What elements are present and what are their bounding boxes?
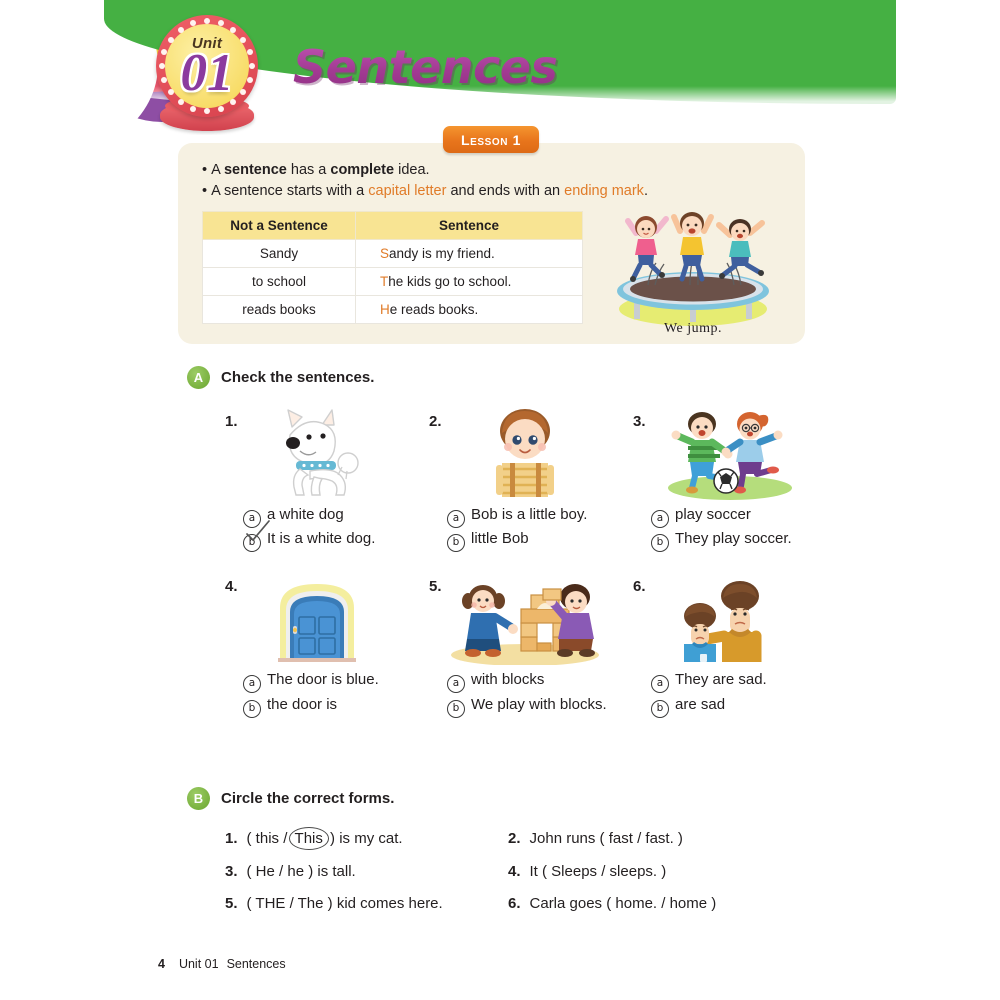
column-header-not-a-sentence: Not a Sentence bbox=[203, 212, 356, 240]
option-a4-a[interactable]: aThe door is blue. bbox=[243, 671, 379, 693]
option-a5-b[interactable]: bWe play with blocks. bbox=[447, 696, 607, 718]
unit-badge-dot bbox=[218, 106, 224, 112]
option-a1-b-text: It is a white dog. bbox=[267, 530, 375, 547]
footer-unit: Unit 01 bbox=[179, 957, 219, 971]
rule-text-run: . bbox=[644, 183, 648, 199]
rule-text-run: capital letter bbox=[368, 183, 446, 199]
table-row: reads booksHe reads books. bbox=[203, 296, 583, 324]
question-b4-text: It ( Sleeps / sleeps. ) bbox=[530, 863, 667, 880]
rule-text-run: has a bbox=[287, 162, 331, 178]
unit-badge-dot bbox=[190, 106, 196, 112]
question-b2[interactable]: 2.John runs ( fast / fast. ) bbox=[508, 830, 683, 847]
unit-badge-dot bbox=[204, 108, 210, 114]
unit-badge-dot bbox=[204, 18, 210, 24]
rule-text-run: and ends with an bbox=[446, 183, 564, 199]
table-row: SandySandy is my friend. bbox=[203, 240, 583, 268]
option-a2-b[interactable]: blittle Bob bbox=[447, 530, 529, 552]
question-b1-before: ( this / bbox=[247, 830, 292, 847]
footer-page-number: 4 bbox=[158, 957, 165, 971]
option-a4-a-text: The door is blue. bbox=[267, 671, 379, 688]
sentence-comparison-table: Not a Sentence Sentence SandySandy is my… bbox=[202, 211, 583, 324]
lesson-badge: Lesson 1 bbox=[443, 126, 539, 153]
rule-item-1: •A sentence has a complete idea. bbox=[202, 160, 782, 181]
handwritten-checkmark bbox=[242, 518, 276, 544]
question-b2-number: 2. bbox=[508, 830, 521, 847]
question-b6[interactable]: 6.Carla goes ( home. / home ) bbox=[508, 895, 716, 912]
question-b5-text: ( THE / The ) kid comes here. bbox=[247, 895, 443, 912]
question-b5[interactable]: 5.( THE / The ) kid comes here. bbox=[225, 895, 443, 912]
option-a3-b[interactable]: bThey play soccer. bbox=[651, 530, 792, 552]
rule-item-2-text: A sentence starts with a capital letter … bbox=[211, 183, 648, 199]
capital-letter: S bbox=[380, 246, 389, 261]
option-a5-a[interactable]: awith blocks bbox=[447, 671, 544, 693]
option-a6-a-text: They are sad. bbox=[675, 671, 767, 688]
table-header-row: Not a Sentence Sentence bbox=[203, 212, 583, 240]
option-a1-a-text: a white dog bbox=[267, 506, 344, 523]
option-a2-b-text: little Bob bbox=[471, 530, 529, 547]
capital-letter: H bbox=[380, 302, 390, 317]
section-b-badge: B bbox=[187, 787, 210, 810]
unit-badge: Unit 01 bbox=[148, 13, 266, 133]
question-b4-number: 4. bbox=[508, 863, 521, 880]
option-a5-b-text: We play with blocks. bbox=[471, 696, 607, 713]
blue-door-illustration bbox=[272, 580, 362, 667]
question-b6-number: 6. bbox=[508, 895, 521, 912]
option-a3-b-text: They play soccer. bbox=[675, 530, 792, 547]
illustration-caption: We jump. bbox=[598, 321, 788, 337]
page-header-decoration: Unit 01 Sentences bbox=[0, 0, 1000, 135]
circled-answer-b1[interactable]: This bbox=[292, 830, 326, 847]
option-a2-a-text: Bob is a little boy. bbox=[471, 506, 587, 523]
page-footer: 4Unit 01Sentences bbox=[158, 957, 286, 971]
unit-badge-number: 01 bbox=[148, 47, 266, 100]
option-mark-b: b bbox=[447, 700, 465, 718]
kids-jumping-on-trampoline-illustration bbox=[598, 201, 788, 331]
option-mark-a: a bbox=[651, 675, 669, 693]
lesson-info-box: •A sentence has a complete idea. •A sent… bbox=[178, 143, 805, 344]
rule-text-run: sentence bbox=[224, 162, 287, 178]
capital-letter: T bbox=[380, 274, 388, 289]
rule-text-run: idea. bbox=[394, 162, 429, 178]
rules-list: •A sentence has a complete idea. •A sent… bbox=[202, 160, 782, 202]
option-a4-b-text: the door is bbox=[267, 696, 337, 713]
question-b6-text: Carla goes ( home. / home ) bbox=[530, 895, 717, 912]
question-number-a4: 4. bbox=[225, 578, 238, 595]
question-b3-text: ( He / he ) is tall. bbox=[247, 863, 356, 880]
rule-text-run: A sentence starts with a bbox=[211, 183, 368, 199]
question-b1[interactable]: 1.( this / This ) is my cat. bbox=[225, 830, 403, 847]
sentence-rest: andy is my friend. bbox=[389, 246, 495, 261]
option-a2-a[interactable]: aBob is a little boy. bbox=[447, 506, 587, 528]
option-mark-a: a bbox=[447, 510, 465, 528]
option-mark-a: a bbox=[243, 675, 261, 693]
question-number-a6: 6. bbox=[633, 578, 646, 595]
boy-in-striped-shirt-illustration bbox=[480, 405, 570, 505]
option-mark-a: a bbox=[651, 510, 669, 528]
cell-not-a-sentence: to school bbox=[203, 268, 356, 296]
option-a6-b-text: are sad bbox=[675, 696, 725, 713]
kids-playing-soccer-illustration bbox=[660, 408, 800, 505]
option-a6-a[interactable]: aThey are sad. bbox=[651, 671, 767, 693]
option-mark-b: b bbox=[447, 534, 465, 552]
question-b5-number: 5. bbox=[225, 895, 238, 912]
rule-item-2: •A sentence starts with a capital letter… bbox=[202, 181, 782, 202]
footer-title: Sentences bbox=[227, 957, 286, 971]
cell-sentence: The kids go to school. bbox=[356, 268, 583, 296]
rule-text-run: A bbox=[211, 162, 224, 178]
sad-father-and-son-illustration bbox=[672, 580, 787, 667]
rule-item-1-text: A sentence has a complete idea. bbox=[211, 162, 429, 178]
option-a5-a-text: with blocks bbox=[471, 671, 544, 688]
question-number-a2: 2. bbox=[429, 413, 442, 430]
rule-text-run: ending mark bbox=[564, 183, 644, 199]
page-title: Sentences bbox=[293, 40, 557, 94]
cell-sentence: Sandy is my friend. bbox=[356, 240, 583, 268]
question-b4[interactable]: 4.It ( Sleeps / sleeps. ) bbox=[508, 863, 666, 880]
white-dog-illustration bbox=[262, 405, 372, 505]
question-number-a1: 1. bbox=[225, 413, 238, 430]
option-mark-b: b bbox=[243, 700, 261, 718]
option-a4-b[interactable]: bthe door is bbox=[243, 696, 337, 718]
option-a3-a[interactable]: aplay soccer bbox=[651, 506, 751, 528]
cell-sentence: He reads books. bbox=[356, 296, 583, 324]
question-b1-number: 1. bbox=[225, 830, 238, 847]
cell-not-a-sentence: Sandy bbox=[203, 240, 356, 268]
option-mark-b: b bbox=[651, 700, 669, 718]
option-mark-a: a bbox=[447, 675, 465, 693]
question-b1-after: ) is my cat. bbox=[326, 830, 403, 847]
question-number-a3: 3. bbox=[633, 413, 646, 430]
section-a-badge: A bbox=[187, 366, 210, 389]
rule-text-run: complete bbox=[330, 162, 394, 178]
question-b2-text: John runs ( fast / fast. ) bbox=[530, 830, 683, 847]
kids-playing-with-blocks-illustration bbox=[443, 575, 608, 670]
unit-badge-dot bbox=[178, 27, 184, 33]
question-b3-number: 3. bbox=[225, 863, 238, 880]
section-a-title: Check the sentences. bbox=[221, 369, 374, 386]
sentence-rest: e reads books. bbox=[390, 302, 479, 317]
option-a3-a-text: play soccer bbox=[675, 506, 751, 523]
table-row: to schoolThe kids go to school. bbox=[203, 268, 583, 296]
sentence-rest: he kids go to school. bbox=[388, 274, 511, 289]
column-header-sentence: Sentence bbox=[356, 212, 583, 240]
option-mark-b: b bbox=[651, 534, 669, 552]
question-number-a5: 5. bbox=[429, 578, 442, 595]
cell-not-a-sentence: reads books bbox=[203, 296, 356, 324]
section-b-title: Circle the correct forms. bbox=[221, 790, 394, 807]
question-b3[interactable]: 3.( He / he ) is tall. bbox=[225, 863, 356, 880]
option-a6-b[interactable]: bare sad bbox=[651, 696, 725, 718]
